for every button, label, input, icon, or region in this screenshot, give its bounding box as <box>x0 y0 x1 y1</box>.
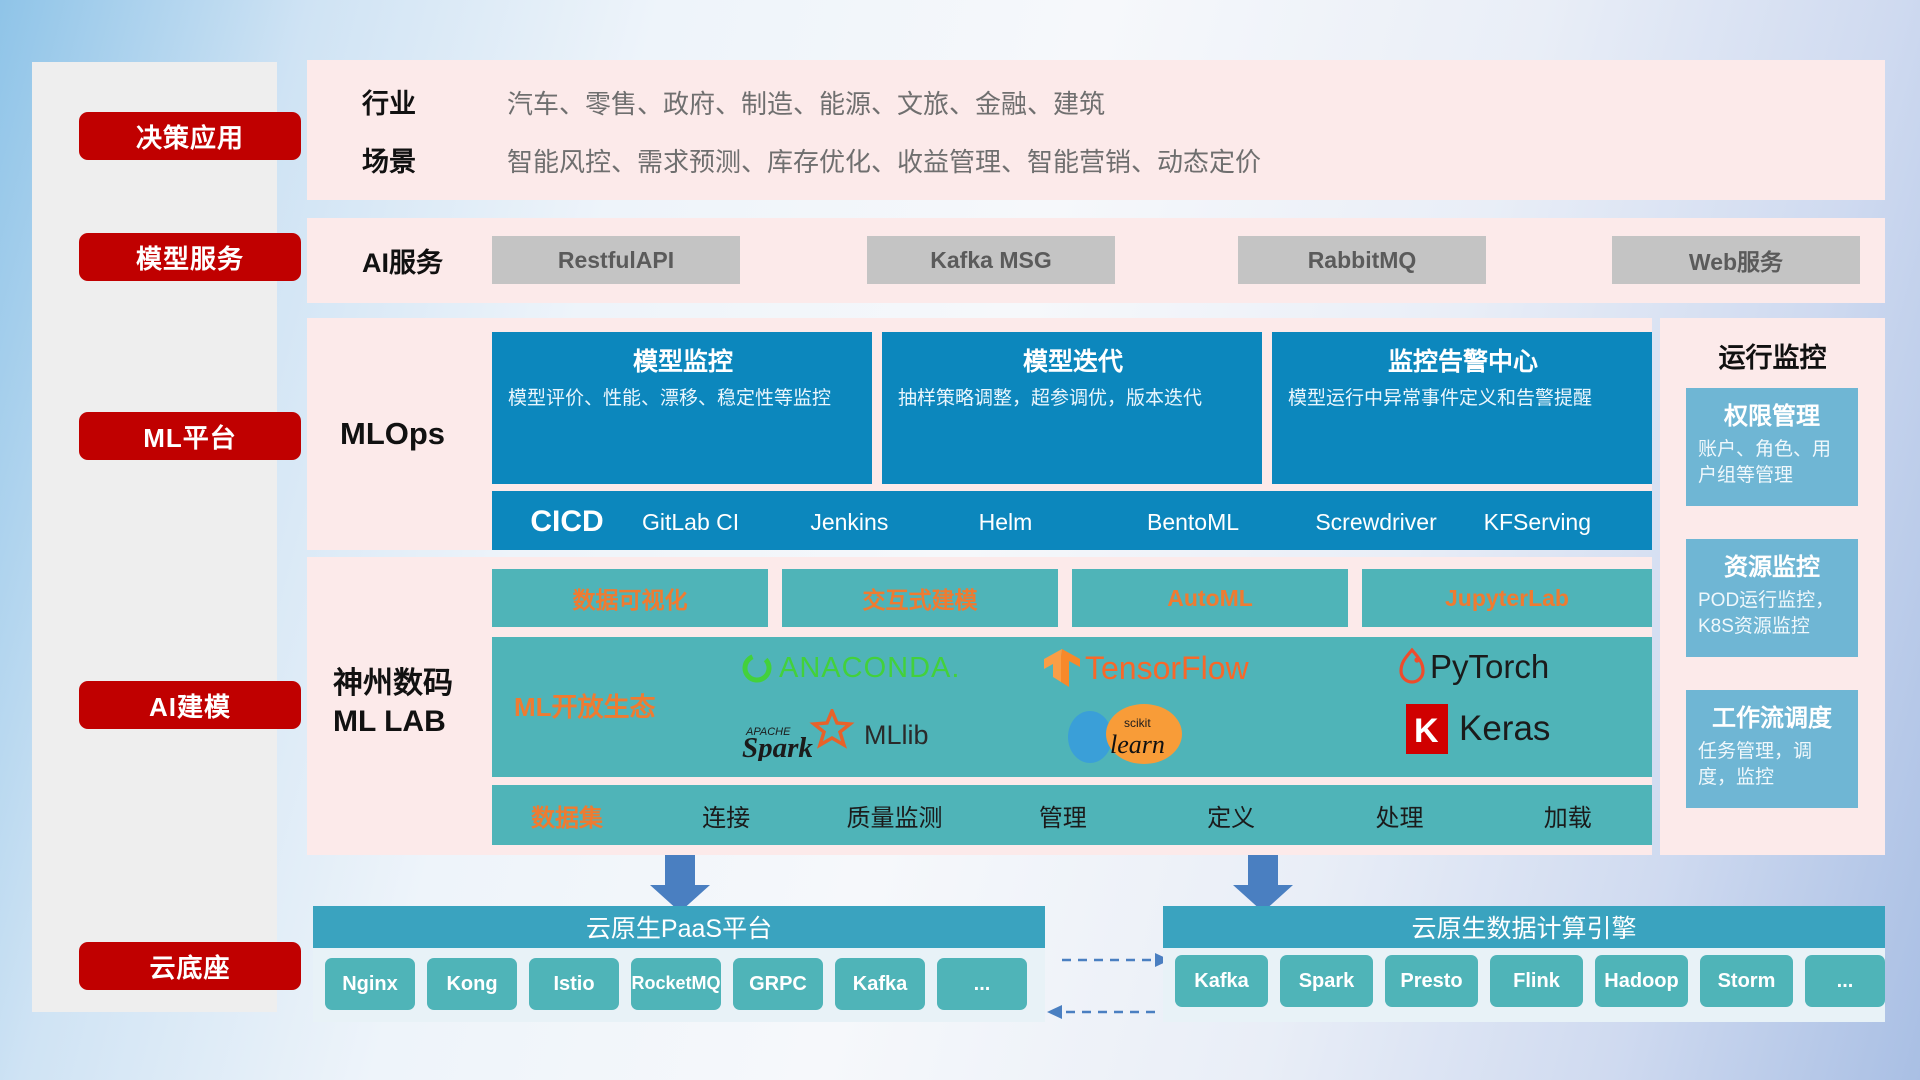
monitor-card-workflow[interactable]: 工作流调度 任务管理，调度，监控 <box>1686 690 1858 808</box>
arrow-up-left-icon <box>650 855 710 912</box>
card-title: 资源监控 <box>1698 547 1846 582</box>
card-title: 工作流调度 <box>1698 698 1846 733</box>
logo-text: Keras <box>1459 709 1550 749</box>
arrow-up-right-icon <box>1233 855 1293 912</box>
mllab-tab-data-visualization[interactable]: 数据可视化 <box>492 569 768 627</box>
mllab-tab-automl[interactable]: AutoML <box>1072 569 1348 627</box>
data-engine-header: 云原生数据计算引擎 <box>1163 906 1885 948</box>
rail-item-ml-platform[interactable]: ML平台 <box>79 412 301 460</box>
architecture-diagram: 决策应用 模型服务 ML平台 AI建模 云底座 行业 汽车、零售、政府、制造、能… <box>0 0 1920 1080</box>
mllab-label: 神州数码 ML LAB <box>333 665 453 740</box>
engine-chip-kafka[interactable]: Kafka <box>1175 955 1268 1007</box>
card-desc: 模型运行中异常事件定义和告警提醒 <box>1288 386 1638 412</box>
chip-label: Kafka <box>1194 970 1248 992</box>
layer-rail: 决策应用 模型服务 ML平台 AI建模 云底座 <box>32 62 277 1012</box>
scenario-text: 智能风控、需求预测、库存优化、收益管理、智能营销、动态定价 <box>507 142 1261 179</box>
engine-chip-more[interactable]: ... <box>1805 955 1885 1007</box>
dataset-item-define[interactable]: 定义 <box>1147 798 1315 833</box>
logo-text: ANACONDA. <box>779 652 960 685</box>
mllab-band: 神州数码 ML LAB 数据可视化 交互式建模 AutoML JupyterLa… <box>307 557 1652 855</box>
cicd-item-screwdriver[interactable]: Screwdriver <box>1315 491 1483 535</box>
rail-label: 云底座 <box>149 948 230 985</box>
mllab-tab-interactive-modeling[interactable]: 交互式建模 <box>782 569 1058 627</box>
ml-ecosystem-panel: ML开放生态 ANACONDA. TensorFlow <box>492 637 1652 777</box>
cicd-bar: CICD GitLab CI Jenkins Helm BentoML Scre… <box>492 491 1652 550</box>
scikit-learn-icon: scikit learn <box>1062 703 1210 765</box>
logo-anaconda: ANACONDA. <box>740 651 960 685</box>
paas-chip-grpc[interactable]: GRPC <box>733 958 823 1010</box>
chip-label: Storm <box>1718 970 1776 992</box>
dataset-label: 数据集 <box>492 798 642 833</box>
chip-label: Presto <box>1400 970 1462 992</box>
pill-label: RestfulAPI <box>558 247 674 274</box>
spark-icon: APACHE Spark <box>740 709 860 761</box>
chip-label: Nginx <box>342 973 398 995</box>
card-desc: 模型评价、性能、漂移、稳定性等监控 <box>508 386 858 412</box>
logo-spark-mllib: APACHE Spark MLlib <box>740 709 929 761</box>
dataset-item-quality[interactable]: 质量监测 <box>810 798 978 833</box>
card-title: 权限管理 <box>1698 396 1846 431</box>
paas-chip-rocketmq[interactable]: RocketMQ <box>631 958 721 1010</box>
ai-service-rabbitmq[interactable]: RabbitMQ <box>1238 236 1486 284</box>
svg-text:K: K <box>1414 712 1439 750</box>
chip-label: RocketMQ <box>632 974 721 994</box>
chip-label: Hadoop <box>1604 970 1678 992</box>
paas-chip-istio[interactable]: Istio <box>529 958 619 1010</box>
card-title: 模型迭代 <box>898 342 1248 378</box>
mlops-card-model-iteration[interactable]: 模型迭代 抽样策略调整，超参调优，版本迭代 <box>882 332 1262 484</box>
ai-service-web[interactable]: Web服务 <box>1612 236 1860 284</box>
logo-text: TensorFlow <box>1085 650 1249 687</box>
mllab-tab-jupyterlab[interactable]: JupyterLab <box>1362 569 1652 627</box>
card-desc: 抽样策略调整，超参调优，版本迭代 <box>898 386 1248 412</box>
paas-platform-header: 云原生PaaS平台 <box>313 906 1045 948</box>
chip-label: ... <box>974 973 991 995</box>
chip-label: Spark <box>1299 970 1355 992</box>
tab-label: 交互式建模 <box>863 581 978 615</box>
ai-service-band: AI服务 RestfulAPI Kafka MSG RabbitMQ Web服务 <box>307 218 1885 303</box>
cicd-item-jenkins[interactable]: Jenkins <box>810 491 978 535</box>
engine-chip-hadoop[interactable]: Hadoop <box>1595 955 1688 1007</box>
svg-text:scikit: scikit <box>1124 716 1151 730</box>
scenario-label: 场景 <box>362 138 416 180</box>
rail-item-decision-app[interactable]: 决策应用 <box>79 112 301 160</box>
pill-label: Web服务 <box>1689 243 1783 277</box>
tab-label: 数据可视化 <box>573 581 688 615</box>
rail-item-model-service[interactable]: 模型服务 <box>79 233 301 281</box>
dashed-arrow-left-head-icon <box>1047 1005 1062 1019</box>
ml-ecosystem-label: ML开放生态 <box>514 687 656 724</box>
rail-item-cloud-base[interactable]: 云底座 <box>79 942 301 990</box>
industry-text: 汽车、零售、政府、制造、能源、文旅、金融、建筑 <box>507 84 1105 121</box>
industry-label: 行业 <box>362 80 416 122</box>
pill-label: RabbitMQ <box>1308 247 1417 274</box>
card-desc: 账户、角色、用户组等管理 <box>1698 437 1846 488</box>
dataset-row: 数据集 连接 质量监测 管理 定义 处理 加载 <box>492 785 1652 845</box>
paas-chip-nginx[interactable]: Nginx <box>325 958 415 1010</box>
chip-label: Kong <box>446 973 497 995</box>
cicd-label: CICD <box>492 491 642 539</box>
tensorflow-icon <box>1042 647 1082 689</box>
mlops-band: MLOps 模型监控 模型评价、性能、漂移、稳定性等监控 模型迭代 抽样策略调整… <box>307 318 1652 550</box>
tab-label: JupyterLab <box>1445 585 1569 612</box>
paas-platform-title: 云原生PaaS平台 <box>586 909 772 945</box>
card-desc: POD运行监控，K8S资源监控 <box>1698 588 1846 639</box>
anaconda-icon <box>740 651 774 685</box>
cicd-item-helm[interactable]: Helm <box>979 491 1147 535</box>
monitor-card-permission[interactable]: 权限管理 账户、角色、用户组等管理 <box>1686 388 1858 506</box>
pytorch-icon <box>1397 647 1427 687</box>
chip-label: ... <box>1837 970 1854 992</box>
pill-label: Kafka MSG <box>930 247 1051 274</box>
card-title: 监控告警中心 <box>1288 342 1638 378</box>
chip-label: Istio <box>553 973 594 995</box>
mlops-label: MLOps <box>340 416 445 452</box>
card-title: 模型监控 <box>508 342 858 378</box>
dataset-item-load[interactable]: 加载 <box>1484 798 1652 833</box>
engine-chip-spark[interactable]: Spark <box>1280 955 1373 1007</box>
logo-scikit-learn: scikit learn <box>1062 703 1210 765</box>
logo-text-mllib: MLlib <box>864 720 929 751</box>
mllab-label-line2: ML LAB <box>333 703 446 741</box>
monitor-band: 运行监控 权限管理 账户、角色、用户组等管理 资源监控 POD运行监控，K8S资… <box>1660 318 1885 855</box>
rail-label: AI建模 <box>149 687 231 724</box>
ai-service-restfulapi[interactable]: RestfulAPI <box>492 236 740 284</box>
rail-item-ai-modeling[interactable]: AI建模 <box>79 681 301 729</box>
svg-text:learn: learn <box>1110 730 1165 759</box>
monitor-title: 运行监控 <box>1660 336 1885 375</box>
mlops-card-alert-center[interactable]: 监控告警中心 模型运行中异常事件定义和告警提醒 <box>1272 332 1652 484</box>
ai-service-label: AI服务 <box>362 237 443 283</box>
tab-label: AutoML <box>1167 585 1253 612</box>
mlops-card-model-monitoring[interactable]: 模型监控 模型评价、性能、漂移、稳定性等监控 <box>492 332 872 484</box>
keras-icon: K <box>1404 703 1450 755</box>
rail-label: ML平台 <box>143 418 237 455</box>
cicd-item-gitlab-ci[interactable]: GitLab CI <box>642 491 810 535</box>
data-engine-title: 云原生数据计算引擎 <box>1411 909 1636 945</box>
logo-text: PyTorch <box>1430 648 1549 686</box>
engine-chip-flink[interactable]: Flink <box>1490 955 1583 1007</box>
business-band: 行业 汽车、零售、政府、制造、能源、文旅、金融、建筑 场景 智能风控、需求预测、… <box>307 60 1885 200</box>
dataset-item-manage[interactable]: 管理 <box>979 798 1147 833</box>
monitor-card-resource[interactable]: 资源监控 POD运行监控，K8S资源监控 <box>1686 539 1858 657</box>
cicd-item-bentoml[interactable]: BentoML <box>1147 491 1315 535</box>
cicd-item-kfserving[interactable]: KFServing <box>1484 491 1652 535</box>
mllab-label-line1: 神州数码 <box>333 665 453 703</box>
rail-label: 决策应用 <box>136 118 244 155</box>
chip-label: GRPC <box>749 973 807 995</box>
svg-text:Spark: Spark <box>742 732 813 761</box>
logo-keras: K Keras <box>1404 703 1550 755</box>
rail-label: 模型服务 <box>136 239 244 276</box>
dataset-item-connect[interactable]: 连接 <box>642 798 810 833</box>
logo-pytorch: PyTorch <box>1397 647 1549 687</box>
ai-service-kafka-msg[interactable]: Kafka MSG <box>867 236 1115 284</box>
card-desc: 任务管理，调度，监控 <box>1698 739 1846 790</box>
engine-chip-presto[interactable]: Presto <box>1385 955 1478 1007</box>
paas-chip-kong[interactable]: Kong <box>427 958 517 1010</box>
chip-label: Flink <box>1513 970 1560 992</box>
paas-chip-kafka[interactable]: Kafka <box>835 958 925 1010</box>
chip-label: Kafka <box>853 973 907 995</box>
dataset-item-process[interactable]: 处理 <box>1315 798 1483 833</box>
paas-chip-more[interactable]: ... <box>937 958 1027 1010</box>
engine-chip-storm[interactable]: Storm <box>1700 955 1793 1007</box>
logo-tensorflow: TensorFlow <box>1042 647 1249 689</box>
